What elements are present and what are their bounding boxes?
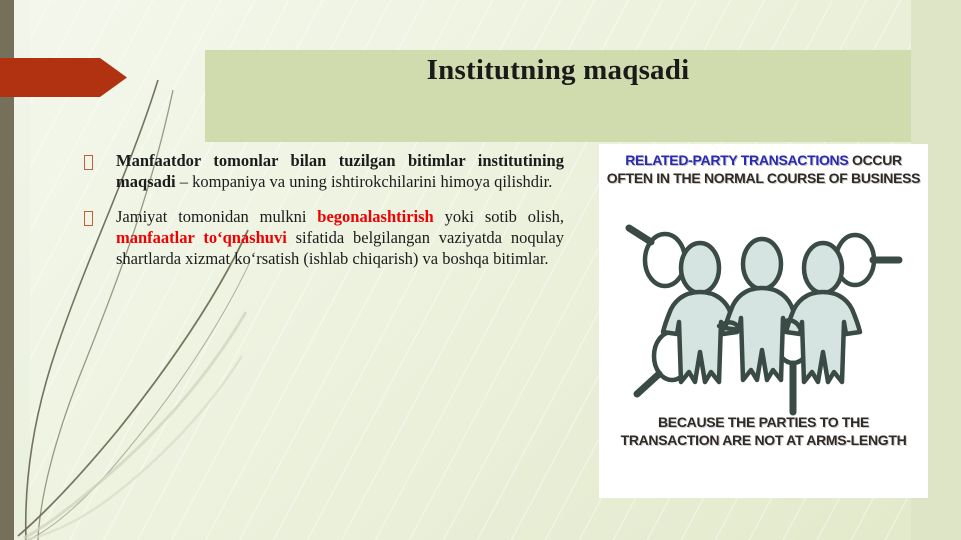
page-title: Institutning maqsadi	[205, 55, 911, 87]
grass-decoration	[10, 80, 250, 540]
bullet-2-segment-2: yoki sotib olish,	[434, 207, 564, 226]
slide-canvas: Institutning maqsadi Manfaatdor tomonlar…	[0, 0, 961, 540]
image-bottom-caption-line2: TRANSACTION ARE NOT AT ARMS-LENGTH	[621, 432, 907, 448]
bullet-text-1: Manfaatdor tomonlar bilan tuzilgan bitim…	[116, 150, 564, 192]
square-outline-bullet-icon	[84, 155, 93, 170]
body-content: Manfaatdor tomonlar bilan tuzilgan bitim…	[84, 150, 564, 284]
image-caption-dark-text: OCCUR	[848, 152, 901, 168]
bullet-2-highlight-1: begonalashtirish	[317, 207, 433, 226]
square-outline-bullet-icon	[84, 211, 93, 226]
image-caption-blue-text: RELATED-PARTY TRANSACTIONS	[625, 152, 848, 168]
slide-image: RELATED-PARTY TRANSACTIONS OCCUR OFTEN I…	[599, 144, 928, 498]
list-item: Jamiyat tomonidan mulkni begonalashtiris…	[84, 206, 564, 269]
image-top-caption: RELATED-PARTY TRANSACTIONS OCCUR OFTEN I…	[599, 152, 928, 187]
people-holding-hands-illustration	[607, 222, 920, 422]
bullet-2-segment-1: Jamiyat tomonidan mulkni	[116, 207, 317, 226]
list-item: Manfaatdor tomonlar bilan tuzilgan bitim…	[84, 150, 564, 192]
image-bottom-caption-line1: BECAUSE THE PARTIES TO THE	[658, 414, 869, 430]
image-caption-line2: OFTEN IN THE NORMAL COURSE OF BUSINESS	[607, 170, 920, 186]
bullet-2-highlight-2: manfaatlar to‘qnashuvi	[116, 228, 287, 247]
image-bottom-caption: BECAUSE THE PARTIES TO THE TRANSACTION A…	[599, 414, 928, 449]
bullet-1-segment-normal: – kompaniya va uning ishtirokchilarini h…	[180, 172, 553, 191]
red-arrow-shape	[0, 58, 127, 97]
bullet-text-2: Jamiyat tomonidan mulkni begonalashtiris…	[116, 206, 564, 269]
